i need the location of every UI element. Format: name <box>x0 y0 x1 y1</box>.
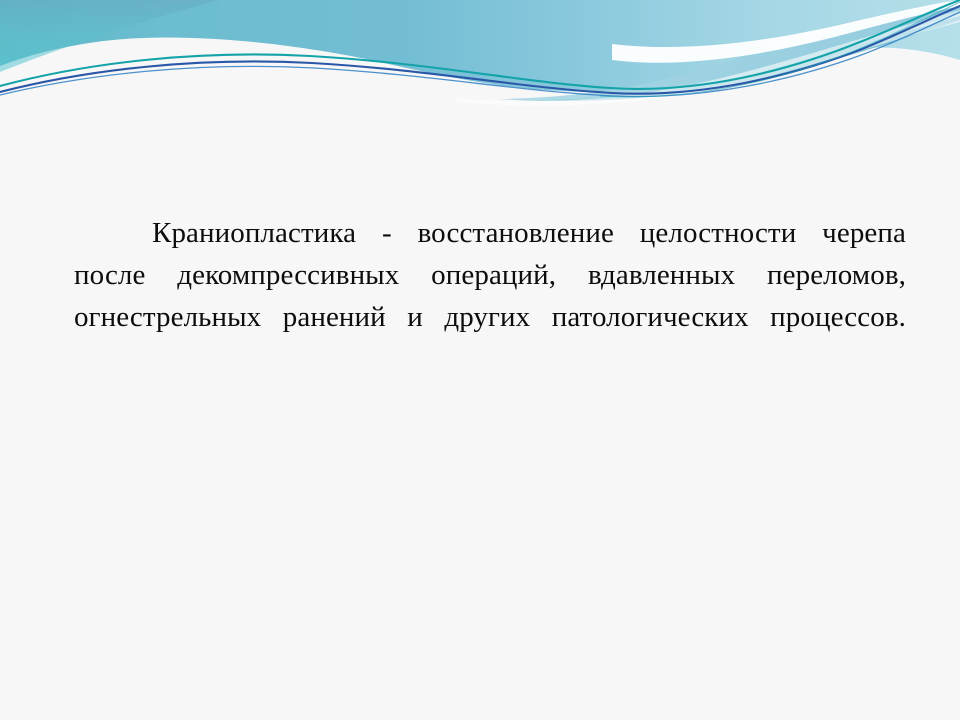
slide-text-body: Краниопластика - восстановление целостно… <box>74 212 906 380</box>
wave-ribbon-group <box>500 0 960 101</box>
wave-band-group <box>0 0 960 92</box>
blue-wave-banner-decoration <box>0 0 960 115</box>
wave-line-group <box>0 0 960 97</box>
presentation-slide: Краниопластика - восстановление целостно… <box>0 0 960 720</box>
definition-paragraph: Краниопластика - восстановление целостно… <box>74 212 906 380</box>
white-swoosh-group <box>455 0 960 106</box>
